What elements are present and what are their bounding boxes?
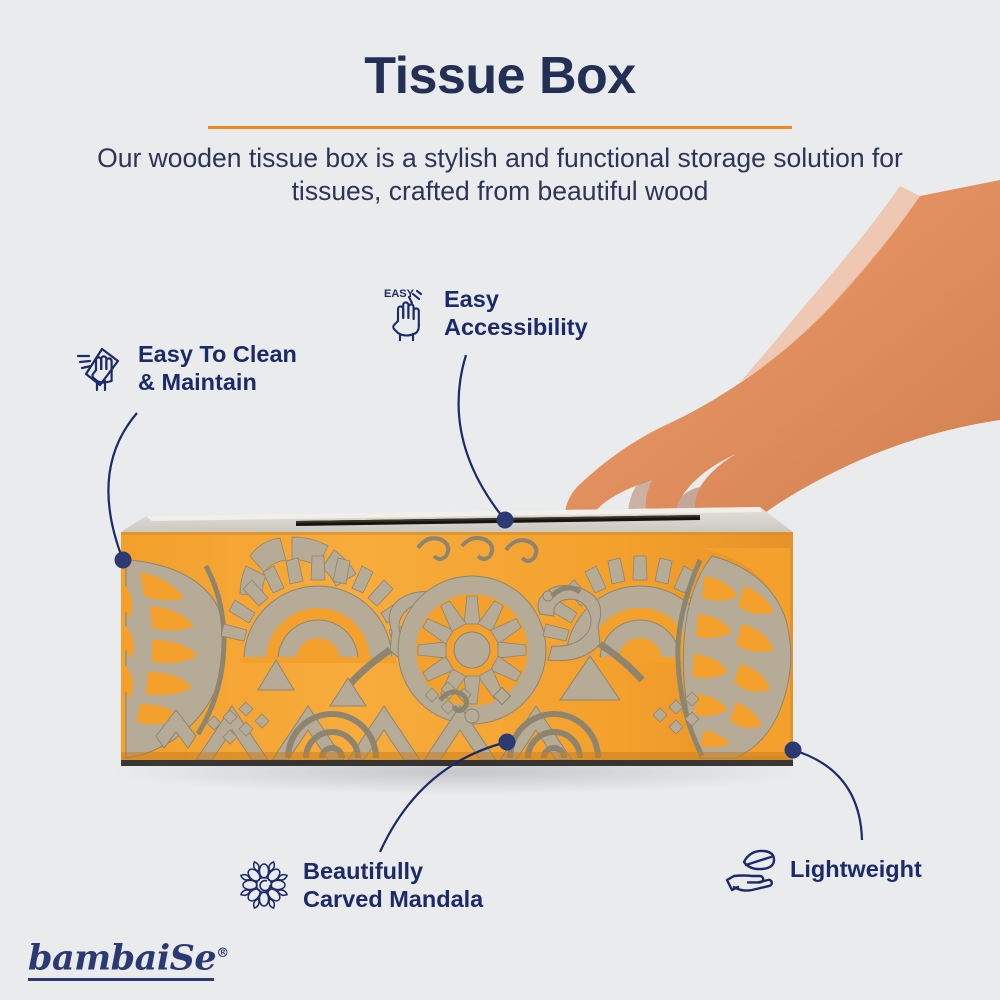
connector-easy-clean	[108, 413, 137, 560]
arm	[565, 180, 1000, 532]
chevron-band	[156, 706, 572, 760]
product-infographic: Tissue Box Our wooden tissue box is a st…	[0, 0, 1000, 1000]
connector-lightweight	[793, 750, 862, 840]
hand-reaching	[565, 180, 1000, 532]
arc-fan-left	[240, 537, 356, 596]
feature-label: Beautifully Carved Mandala	[303, 857, 483, 913]
feature-easy-accessibility: EASY Easy Accessibility	[382, 285, 588, 341]
page-title: Tissue Box	[0, 46, 1000, 106]
right-rosette	[678, 548, 791, 758]
tissue-slot	[296, 515, 700, 526]
box-shadow	[110, 750, 810, 794]
sun-ray-arc-1	[221, 556, 415, 663]
bird-motif-2	[538, 586, 642, 680]
feature-carved-mandala: Beautifully Carved Mandala	[235, 856, 483, 914]
concentric-arcs-bottom	[288, 714, 598, 758]
connector-lines	[108, 355, 862, 852]
connector-dot-lightweight	[785, 742, 802, 759]
connector-dots	[115, 512, 802, 759]
mandala-flower-icon	[235, 856, 293, 914]
feature-label: Easy To Clean & Maintain	[138, 340, 297, 396]
scrollwork-left	[418, 538, 536, 561]
triangle-motifs	[258, 656, 620, 706]
finger-shadow-2	[628, 480, 652, 532]
diamond-clusters	[207, 682, 699, 744]
hand-holding-leaf-icon	[724, 846, 780, 892]
feature-label: Easy Accessibility	[444, 285, 588, 341]
brand-wordmark: bambaiSe®	[28, 936, 228, 977]
registered-trademark-icon: ®	[216, 946, 229, 961]
connector-carved-mandala	[380, 742, 507, 852]
left-rosette	[122, 560, 226, 758]
page-subtitle: Our wooden tissue box is a stylish and f…	[90, 142, 910, 208]
finger-shadow	[675, 487, 700, 532]
arm-highlight	[740, 186, 920, 382]
hand-wiping-cloth-icon	[72, 340, 128, 396]
brand-logo: bambaiSe®	[28, 936, 228, 986]
brand-name: bambaiSe	[28, 938, 216, 979]
connector-easy-accessibility	[459, 355, 505, 520]
curl-motifs	[440, 588, 580, 711]
feature-easy-to-clean: Easy To Clean & Maintain	[72, 340, 297, 396]
central-mandala	[398, 576, 546, 724]
hand-pulling-tissue-icon: EASY	[382, 285, 434, 341]
box-top	[121, 507, 793, 532]
bird-motif-1	[348, 592, 452, 686]
feature-label: Lightweight	[790, 855, 922, 883]
sun-ray-arc-2	[543, 556, 737, 663]
mandala-carving	[122, 537, 791, 760]
connector-dot-easy-accessibility	[497, 512, 514, 529]
box-front-panel	[121, 532, 793, 766]
title-divider	[208, 126, 792, 129]
connector-dot-easy-clean	[115, 552, 132, 569]
connector-dot-carved-mandala	[499, 734, 516, 751]
feature-lightweight: Lightweight	[724, 846, 922, 892]
